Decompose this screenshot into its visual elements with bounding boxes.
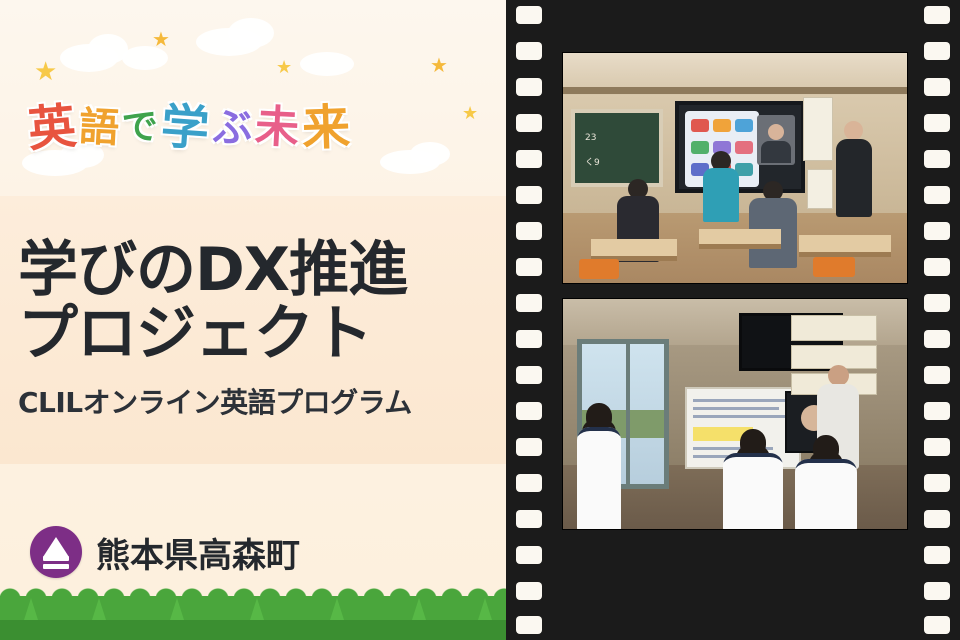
- takamori-town-crest-icon: [30, 526, 82, 578]
- grass-blade-icon: [250, 598, 264, 620]
- film-perforation-column-right: [924, 0, 950, 640]
- school-chair: [579, 259, 619, 279]
- student-figure: [703, 151, 739, 223]
- photo-classroom-online-lesson: 23 く9: [563, 53, 907, 283]
- star-icon: ★: [34, 58, 57, 84]
- photo-frame-classroom-online-lesson: 23 く9: [562, 52, 908, 284]
- school-desk: [699, 229, 781, 249]
- kicker-char: 英: [26, 102, 79, 154]
- poster-footer: 熊本県高森町: [0, 464, 520, 640]
- grass-blade-icon: [412, 598, 426, 620]
- kicker-band: ★ ★ ★ ★ ★ 英 語 で 学 ぶ 未 来: [0, 0, 520, 196]
- film-perforation-column-left: [516, 0, 542, 640]
- electronic-whiteboard: [675, 101, 805, 193]
- photo-classroom-presentation: [563, 299, 907, 529]
- municipality-name: 熊本県高森町: [96, 528, 300, 577]
- kicker-char: 語: [78, 107, 121, 149]
- cloud-icon: [300, 52, 354, 76]
- school-desk: [799, 235, 891, 257]
- poster-left-panel: ★ ★ ★ ★ ★ 英 語 で 学 ぶ 未 来 学びのDX推進 プロジェクト C…: [0, 0, 520, 640]
- teacher-figure: [835, 121, 873, 217]
- star-icon: ★: [152, 30, 170, 50]
- student-figure: [577, 403, 621, 530]
- chalkboard-text-1: 23: [585, 133, 596, 143]
- wall-poster: [807, 169, 833, 209]
- student-figure: [795, 435, 857, 530]
- grass-blade-icon: [24, 598, 38, 620]
- page-subtitle: CLILオンライン英語プログラム: [18, 381, 520, 421]
- kicker-char: 学: [159, 102, 211, 153]
- kicker-char: ぶ: [211, 107, 255, 150]
- grass-blade-icon: [478, 598, 492, 620]
- wall-poster: [791, 315, 877, 341]
- poster-canvas: ★ ★ ★ ★ ★ 英 語 で 学 ぶ 未 来 学びのDX推進 プロジェクト C…: [0, 0, 960, 640]
- kicker-char: 未: [254, 105, 301, 151]
- video-call-tile: [757, 115, 795, 165]
- filmstrip: 23 く9: [506, 0, 960, 640]
- wall-poster: [803, 97, 833, 161]
- grass-blade-icon: [92, 598, 106, 620]
- kicker-char: 来: [301, 103, 352, 153]
- cloud-icon: [228, 18, 274, 48]
- grass-blade-icon: [170, 598, 184, 620]
- page-title-line-2: プロジェクト: [18, 303, 520, 367]
- chalkboard-text-2: く9: [585, 155, 600, 168]
- star-icon: ★: [276, 58, 292, 76]
- student-figure: [749, 181, 797, 269]
- grass-blade-icon: [330, 598, 344, 620]
- kicker-text: 英 語 で 学 ぶ 未 来: [28, 92, 498, 164]
- school-chair: [813, 257, 855, 277]
- kicker-char: で: [121, 109, 160, 147]
- chalkboard: 23 く9: [571, 109, 663, 187]
- title-band: 学びのDX推進 プロジェクト CLILオンライン英語プログラム: [0, 196, 520, 464]
- student-figure: [723, 429, 783, 530]
- star-icon: ★: [430, 56, 448, 76]
- photo-frame-classroom-presentation: [562, 298, 908, 530]
- school-desk: [591, 239, 677, 261]
- grass-base: [0, 620, 520, 640]
- page-title-line-1: 学びのDX推進: [18, 239, 520, 303]
- municipality-logo-row: 熊本県高森町: [30, 526, 300, 578]
